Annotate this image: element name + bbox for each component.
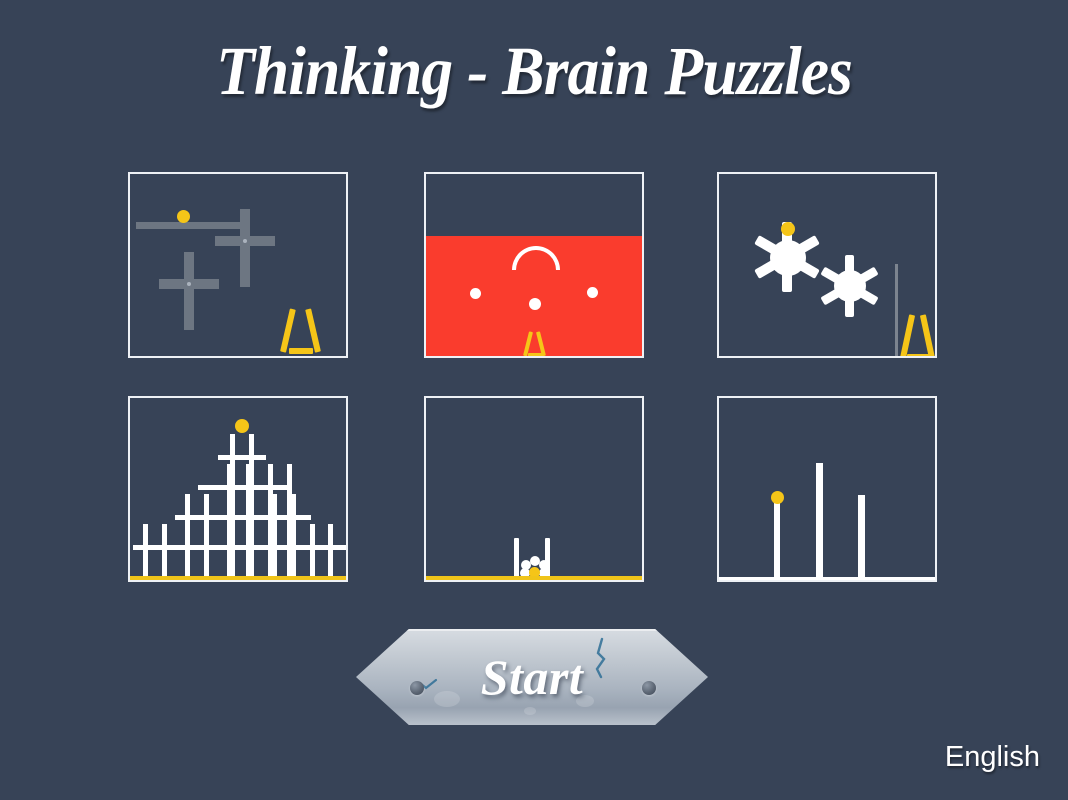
ball-white [529,298,541,310]
level-5-scene [426,398,642,580]
ball-white [470,288,481,299]
floor-white [719,577,935,580]
ball-yellow [771,491,784,504]
gear-wheel [826,262,874,310]
level-1-scene [130,174,346,356]
platform [136,222,240,229]
level-2-scene [426,174,642,356]
page-title: Thinking - Brain Puzzles [43,32,1026,111]
ball-yellow [177,210,190,223]
level-thumbnail-5[interactable] [424,396,644,582]
floor-yellow [426,576,642,580]
language-selector[interactable]: English [945,741,1040,774]
pillar [774,501,780,581]
level-thumbnail-1[interactable] [128,172,348,358]
pillar [816,463,823,581]
level-3-scene [719,174,935,356]
level-4-scene [130,398,346,580]
level-thumbnail-6[interactable] [717,396,937,582]
level-thumbnail-grid [128,172,940,587]
level-6-scene [719,398,935,580]
gear-wheel [760,230,816,286]
level-thumbnail-2[interactable] [424,172,644,358]
level-thumbnail-4[interactable] [128,396,348,582]
cup-yellow [522,331,548,357]
ball-white [587,287,598,298]
ball-yellow [781,222,795,236]
ball-yellow [235,419,249,433]
pillar [858,495,865,581]
cup-yellow [278,308,324,354]
floor-yellow [130,576,346,580]
cup-yellow [898,314,937,358]
level-thumbnail-3[interactable] [717,172,937,358]
start-button[interactable]: Start [356,629,708,725]
start-button-label: Start [356,629,708,725]
